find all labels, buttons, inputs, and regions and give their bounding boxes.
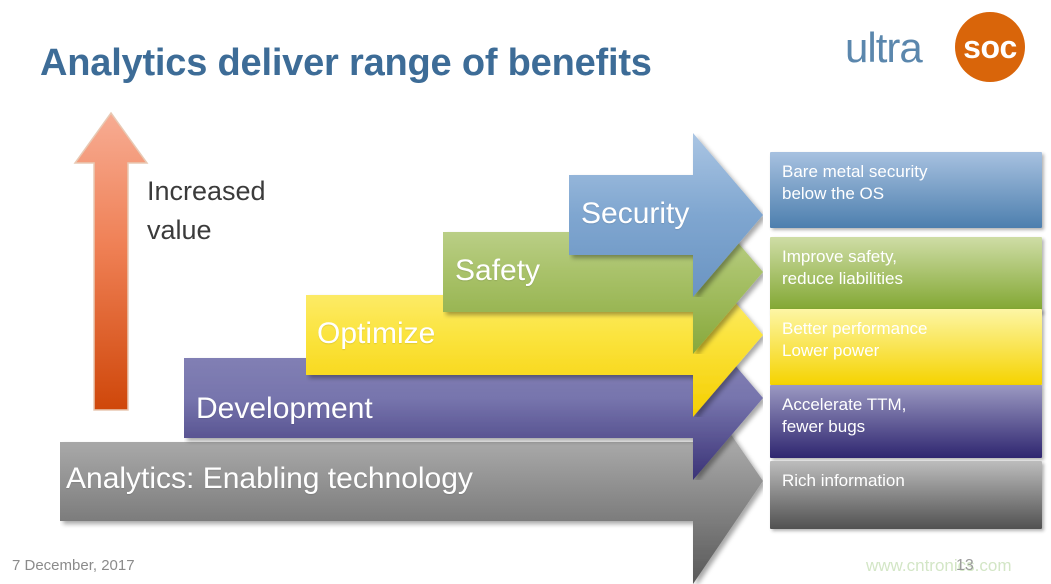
- benefit-security-line1: Bare metal security: [782, 161, 1030, 183]
- logo-badge-text: soc: [955, 12, 1025, 82]
- benefit-box-optimize[interactable]: Better performance Lower power: [770, 309, 1042, 385]
- logo-wordmark: ultra: [845, 24, 922, 72]
- benefit-security-line2: below the OS: [782, 183, 1030, 205]
- page-title: Analytics deliver range of benefits: [40, 42, 652, 85]
- benefit-development-line1: Accelerate TTM,: [782, 394, 1030, 416]
- benefit-box-development[interactable]: Accelerate TTM, fewer bugs: [770, 385, 1042, 458]
- benefit-development-line2: fewer bugs: [782, 416, 1030, 438]
- benefit-box-analytics[interactable]: Rich information: [770, 461, 1042, 529]
- arrow-security-label: Security: [581, 197, 689, 231]
- benefit-optimize-line2: Lower power: [782, 340, 1030, 362]
- logo-badge-circle: soc: [955, 12, 1025, 82]
- arrow-optimize-label: Optimize: [317, 317, 435, 351]
- increased-value-line2: value: [147, 211, 266, 250]
- increased-value-label: Increased value: [147, 172, 266, 250]
- arrow-safety-label: Safety: [455, 254, 540, 288]
- slide-canvas: Analytics deliver range of benefits ultr…: [0, 0, 1051, 584]
- benefit-box-safety[interactable]: Improve safety, reduce liabilities: [770, 237, 1042, 313]
- benefit-optimize-line1: Better performance: [782, 318, 1030, 340]
- benefit-safety-line2: reduce liabilities: [782, 268, 1030, 290]
- site-watermark: www.cntronics.com: [866, 556, 1011, 576]
- increased-value-up-arrow-icon: [72, 110, 150, 415]
- ultrasoc-logo: ultra soc: [843, 10, 1043, 82]
- benefit-analytics-line1: Rich information: [782, 470, 1030, 492]
- page-number: 13: [956, 557, 974, 575]
- footer-date: 7 December, 2017: [12, 557, 135, 574]
- increased-value-line1: Increased: [147, 172, 266, 211]
- benefit-box-security[interactable]: Bare metal security below the OS: [770, 152, 1042, 228]
- benefit-safety-line1: Improve safety,: [782, 246, 1030, 268]
